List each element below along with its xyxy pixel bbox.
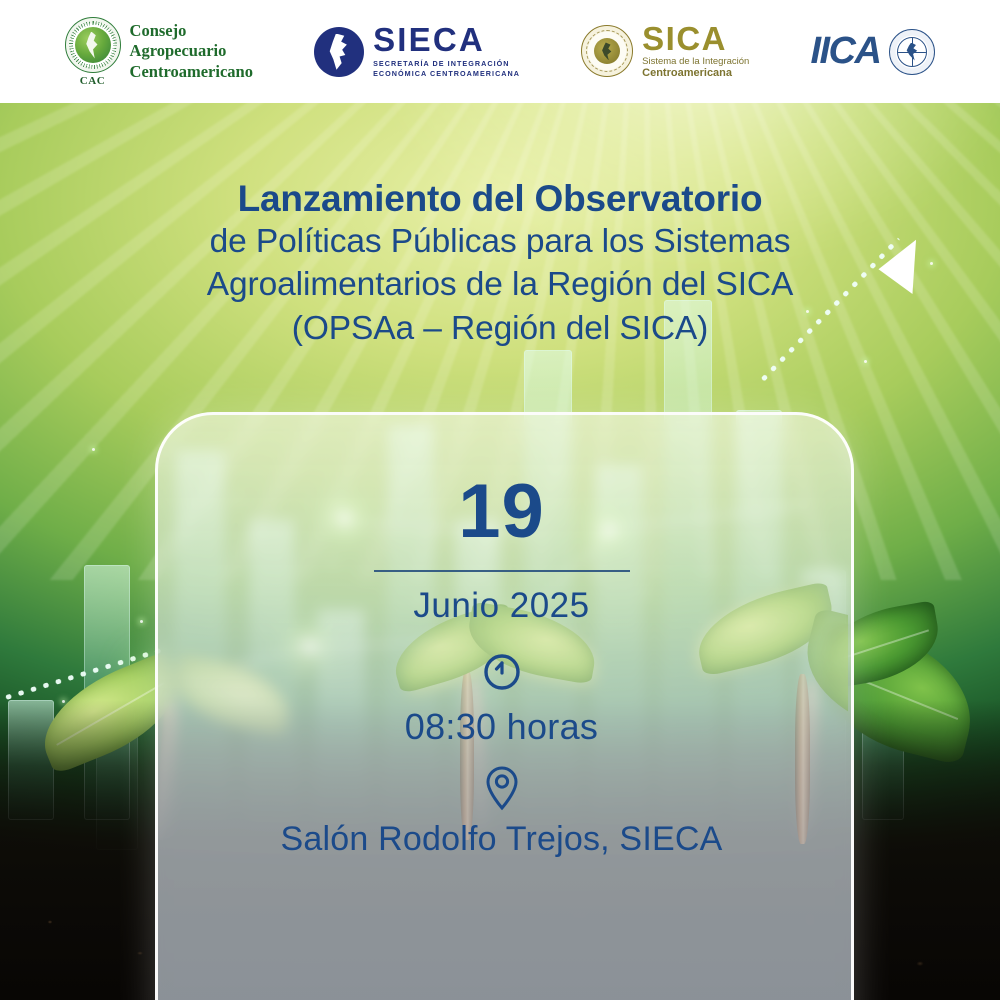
- sieca-logo: SIECA SECRETARÍA DE INTEGRACIÓN ECONÓMIC…: [314, 24, 520, 78]
- iica-acronym: IICA: [810, 30, 880, 73]
- event-venue: Salón Rodolfo Trejos, SIECA: [155, 820, 848, 859]
- title-line-3: Agroalimentarios de la Región del SICA: [0, 263, 1000, 307]
- title-line-4: (OPSAa – Región del SICA): [0, 307, 1000, 351]
- sieca-acronym: SIECA: [373, 24, 520, 55]
- event-poster: CAC Consejo Agropecuario Centroamericano…: [0, 0, 1000, 1000]
- clock-icon: [480, 650, 524, 694]
- event-details: 19 Junio 2025 08:30 horas Salón Rodolfo …: [155, 412, 848, 859]
- cac-name-line-2: Agropecuario: [130, 41, 253, 61]
- sieca-subtitle-line-2: ECONÓMICA CENTROAMERICANA: [373, 69, 520, 79]
- sica-logo: SICA Sistema de la Integración Centroame…: [581, 23, 749, 81]
- globe-americas-seal-icon: [65, 17, 121, 73]
- event-time: 08:30 horas: [155, 706, 848, 748]
- divider: [374, 570, 630, 572]
- iica-logo: IICA: [810, 29, 935, 75]
- cac-name: Consejo Agropecuario Centroamericano: [130, 21, 253, 81]
- sica-subtitle-line-2: Centroamericana: [642, 67, 749, 80]
- page-title: Lanzamiento del Observatorio de Política…: [0, 178, 1000, 350]
- logo-header: CAC Consejo Agropecuario Centroamericano…: [0, 0, 1000, 103]
- cac-name-line-1: Consejo: [130, 21, 253, 41]
- sieca-subtitle-line-1: SECRETARÍA DE INTEGRACIÓN: [373, 59, 520, 69]
- cac-acronym: CAC: [80, 75, 106, 87]
- event-month-year: Junio 2025: [155, 586, 848, 626]
- title-line-2: de Políticas Públicas para los Sistemas: [0, 220, 1000, 264]
- sica-subtitle-line-1: Sistema de la Integración: [642, 56, 749, 67]
- cac-name-line-3: Centroamericano: [130, 62, 253, 82]
- sica-acronym: SICA: [642, 23, 749, 54]
- central-america-map-circle-icon: [314, 27, 364, 77]
- location-pin-icon: [483, 764, 521, 812]
- sica-seal-icon: [581, 25, 633, 77]
- event-day: 19: [155, 474, 848, 550]
- globe-seal-icon: [889, 29, 935, 75]
- title-line-1: Lanzamiento del Observatorio: [0, 178, 1000, 220]
- cac-logo: CAC Consejo Agropecuario Centroamericano: [65, 17, 253, 87]
